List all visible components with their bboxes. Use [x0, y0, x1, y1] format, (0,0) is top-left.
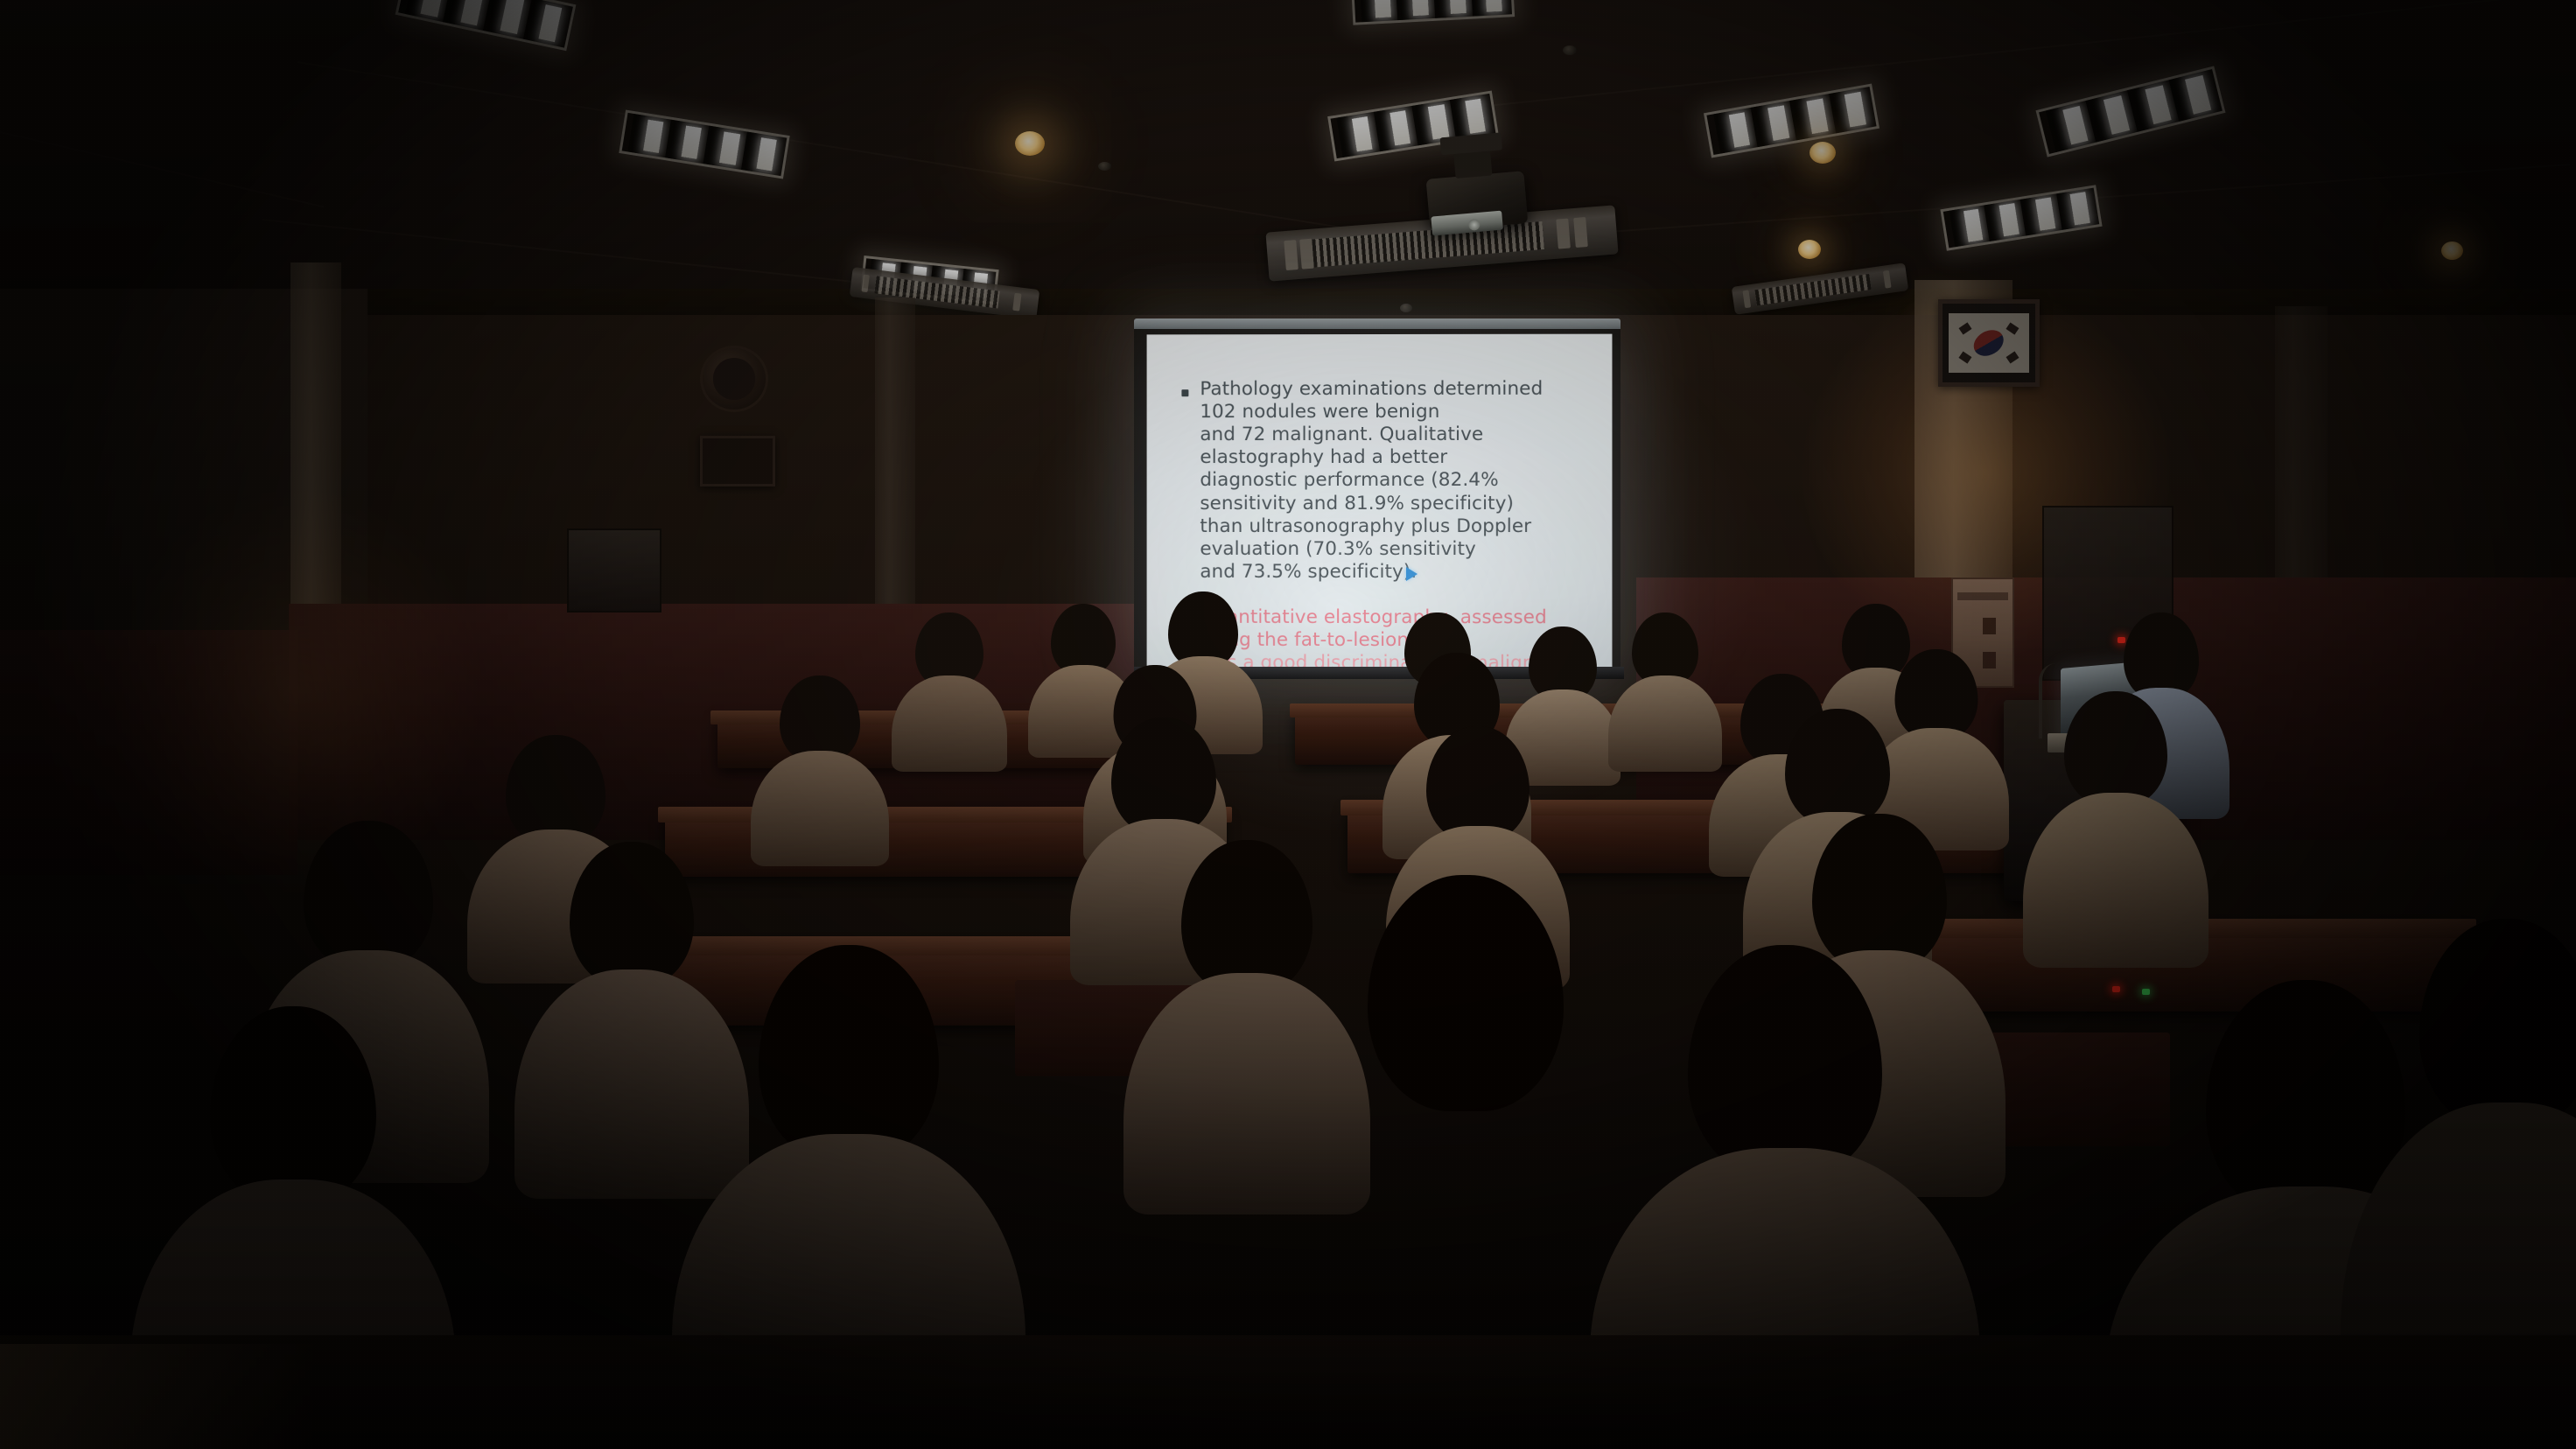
power-led-red-icon [2112, 986, 2120, 992]
bullet-point-icon [1181, 389, 1188, 396]
ceiling-projector [1426, 171, 1529, 232]
wall-speaker-left [567, 528, 661, 612]
wall-pillar-center-left [875, 297, 915, 647]
slide-block-1-text: Pathology examinations determined 102 no… [1200, 378, 1582, 584]
ceiling [0, 0, 2576, 350]
korean-flag-frame [1938, 299, 2040, 387]
projector-lens [1468, 219, 1480, 231]
wainscot-far-left [0, 630, 297, 875]
audience-member [1610, 612, 1720, 758]
slide-block-1: Pathology examinations determined 102 no… [1181, 378, 1582, 584]
wall-sign-frame [700, 436, 775, 486]
lecture-hall-scene: Pathology examinations determined 102 no… [0, 0, 2576, 1449]
floor-light-pool [0, 1344, 315, 1449]
audience-member [2030, 691, 2201, 954]
taeguk-symbol [1969, 325, 2008, 361]
mouse-pointer-icon[interactable] [1406, 567, 1417, 581]
recessed-downlight [1015, 131, 1045, 156]
audience-member [892, 612, 1006, 752]
recessed-downlight [2441, 241, 2463, 260]
wall-clock [700, 346, 768, 412]
clock-face [713, 358, 756, 400]
recessed-downlight [1809, 142, 1836, 164]
smoke-detector [1400, 304, 1412, 312]
audience-member [754, 675, 885, 850]
smoke-detector [1098, 162, 1111, 171]
taegukgi-flag [1949, 313, 2028, 373]
recessed-downlight [1798, 240, 1821, 259]
smoke-detector [1563, 45, 1577, 55]
floor [0, 1335, 2576, 1449]
